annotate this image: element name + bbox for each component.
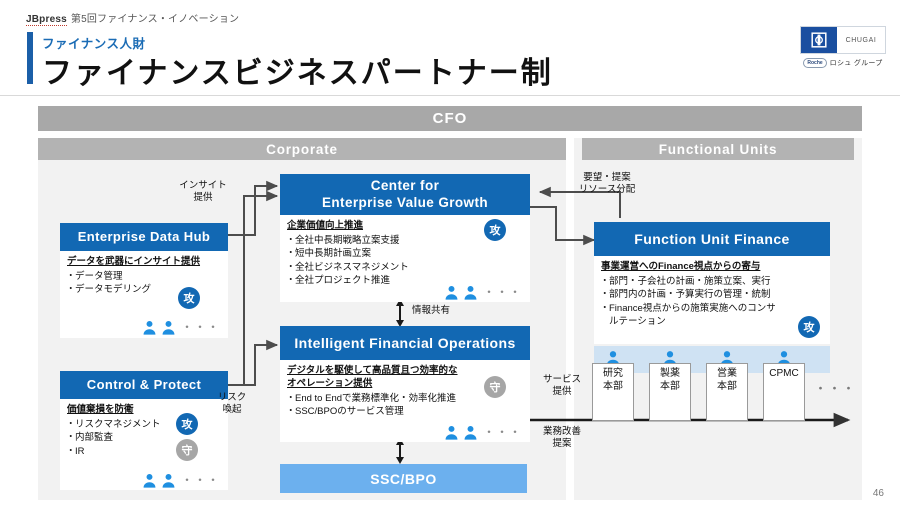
card-title-center-enterprise-value-growth: Center for Enterprise Value Growth: [280, 174, 530, 215]
department-box[interactable]: CPMC: [763, 363, 805, 421]
card-title-line2: Enterprise Value Growth: [322, 195, 488, 211]
card-intelligent-financial-operations[interactable]: Intelligent Financial Operations デジタルを駆使…: [280, 326, 530, 442]
card-enterprise-data-hub[interactable]: Enterprise Data Hub データを武器にインサイト提供 データ管理…: [60, 223, 228, 338]
roche-pill: Roche: [803, 58, 826, 68]
card-list-center-enterprise-value-growth: 全社中長期戦略立案支援 短中長期計画立案 全社ビジネスマネジメント 全社プロジェ…: [287, 234, 523, 288]
card-body-center-enterprise-value-growth: 企業価値向上推進 全社中長期戦略立案支援 短中長期計画立案 全社ビジネスマネジメ…: [280, 215, 530, 302]
card-lead-line2: オペレーション提供: [287, 378, 372, 389]
slide-root: JBpress第5回ファイナンス・イノベーション ファイナンス人財 ファイナンス…: [0, 0, 900, 509]
chugai-mark-icon: [801, 27, 837, 53]
list-item: SSC/BPOのサービス管理: [287, 405, 523, 418]
badge-attack-icon: 攻: [176, 413, 198, 435]
publisher-line: JBpress第5回ファイナンス・イノベーション: [26, 10, 239, 25]
page-number: 46: [873, 488, 884, 499]
badge-attack-icon: 攻: [798, 316, 820, 338]
card-lead-line1: デジタルを駆使して高品質且つ効率的な: [287, 365, 458, 376]
list-item: Finance視点からの施策実施へのコンサ ルテーション: [601, 302, 823, 329]
connector-label-service-provide: サービス 提供: [536, 374, 588, 399]
connector-label-info-share: 情報共有: [412, 305, 472, 317]
badge-attack-icon: 攻: [178, 287, 200, 309]
publisher-name: JBpress: [26, 14, 67, 26]
header-divider: [0, 95, 900, 96]
people-group-icon: ・・・: [443, 283, 522, 301]
more-dots: ・・・: [483, 283, 522, 300]
ssc-bpo-box[interactable]: SSC/BPO: [280, 464, 527, 493]
card-body-enterprise-data-hub: データを武器にインサイト提供 データ管理 データモデリング 攻 ・・・: [60, 251, 228, 338]
card-title-line1: Center for: [371, 178, 440, 194]
department-box[interactable]: 研究 本部: [592, 363, 634, 421]
more-dots: ・・・: [181, 318, 220, 335]
card-control-protect[interactable]: Control & Protect 価値棄損を防衛 リスクマネジメント 内部監査…: [60, 371, 228, 490]
badge-defense-icon: 守: [484, 376, 506, 398]
page-title: ファイナンスビジネスパートナー制: [42, 48, 553, 92]
chugai-logo: CHUGAI Roche ロシュ グループ: [800, 26, 886, 68]
list-item: 部門・子会社の計画・施策立案、実行: [601, 275, 823, 288]
list-item: 内部監査: [67, 431, 221, 444]
card-body-intelligent-financial-operations: デジタルを駆使して高品質且つ効率的な オペレーション提供 End to Endで…: [280, 360, 530, 442]
list-item: データ管理: [67, 270, 221, 283]
functional-units-header: Functional Units: [582, 138, 854, 160]
more-dots: ・・・: [181, 471, 220, 488]
people-group-icon: ・・・: [141, 471, 220, 489]
connector-label-improvement-proposal: 業務改善 提案: [536, 426, 588, 451]
badge-attack-icon: 攻: [484, 219, 506, 241]
cfo-bar: CFO: [38, 106, 862, 131]
card-center-enterprise-value-growth[interactable]: Center for Enterprise Value Growth 企業価値向…: [280, 174, 530, 302]
connector-label-request-resource: 要望・提案 リソース分配: [566, 172, 648, 197]
card-title-enterprise-data-hub: Enterprise Data Hub: [60, 223, 228, 251]
logo-main: CHUGAI: [800, 26, 886, 54]
people-group-icon: ・・・: [443, 423, 522, 441]
card-function-unit-finance[interactable]: Function Unit Finance 事業運営へのFinance視点からの…: [594, 222, 830, 344]
card-lead-enterprise-data-hub: データを武器にインサイト提供: [67, 256, 221, 269]
roche-group-label: ロシュ グループ: [830, 58, 883, 68]
title-accent-bar: [27, 32, 33, 84]
list-item: 部門内の計画・予算実行の管理・統制: [601, 288, 823, 301]
corporate-header: Corporate: [38, 138, 566, 160]
list-item: 短中長期計画立案: [287, 247, 523, 260]
departments-more-dots: ・・・: [814, 378, 856, 397]
card-lead-control-protect: 価値棄損を防衛: [67, 404, 221, 417]
card-title-intelligent-financial-operations: Intelligent Financial Operations: [280, 326, 530, 360]
card-body-control-protect: 価値棄損を防衛 リスクマネジメント 内部監査 IR 攻 守 ・・・: [60, 399, 228, 490]
badge-defense-icon: 守: [176, 439, 198, 461]
people-group-icon: ・・・: [141, 318, 220, 336]
card-title-function-unit-finance: Function Unit Finance: [594, 222, 830, 256]
logo-company-name: CHUGAI: [837, 27, 885, 53]
series-name: 第5回ファイナンス・イノベーション: [71, 14, 239, 25]
list-item: 全社ビジネスマネジメント: [287, 261, 523, 274]
logo-group-line: Roche ロシュ グループ: [800, 58, 886, 68]
department-box[interactable]: 製薬 本部: [649, 363, 691, 421]
more-dots: ・・・: [483, 423, 522, 440]
connector-label-risk-alert: リスク 喚起: [212, 392, 252, 417]
connector-label-insight: インサイト 提供: [174, 180, 232, 205]
card-body-function-unit-finance: 事業運営へのFinance視点からの寄与 部門・子会社の計画・施策立案、実行 部…: [594, 256, 830, 344]
card-title-control-protect: Control & Protect: [60, 371, 228, 399]
card-lead-function-unit-finance: 事業運営へのFinance視点からの寄与: [601, 261, 823, 274]
card-list-function-unit-finance: 部門・子会社の計画・施策立案、実行 部門内の計画・予算実行の管理・統制 Fina…: [601, 275, 823, 329]
department-box[interactable]: 営業 本部: [706, 363, 748, 421]
